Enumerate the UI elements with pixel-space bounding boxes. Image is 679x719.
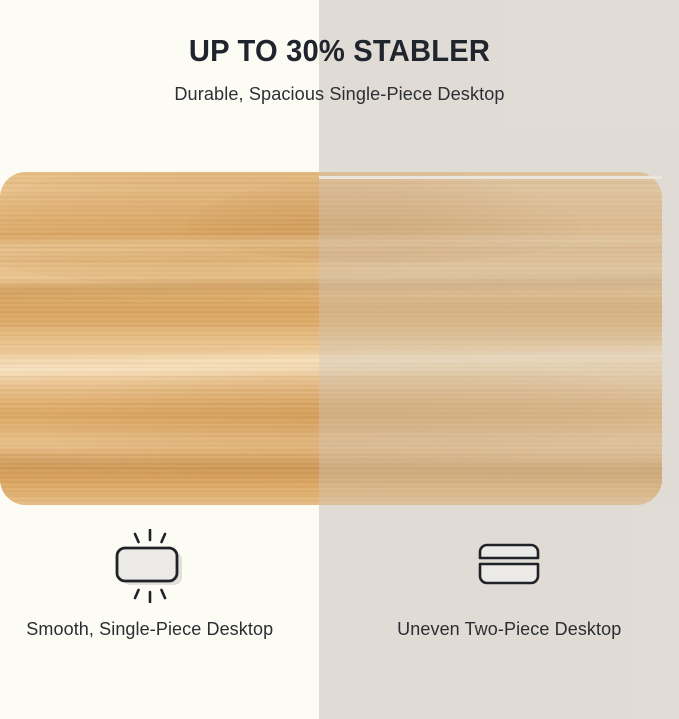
page-subheadline: Durable, Spacious Single-Piece Desktop bbox=[7, 71, 672, 106]
comparison-caption-left: Smooth, Single-Piece Desktop bbox=[26, 601, 273, 643]
two-piece-desktop-icon bbox=[461, 531, 557, 601]
comparison-row: Smooth, Single-Piece Desktop Uneven Two-… bbox=[0, 505, 679, 719]
infographic-page: UP TO 30% STABLER Durable, Spacious Sing… bbox=[0, 0, 679, 719]
comparison-column-right: Uneven Two-Piece Desktop bbox=[340, 505, 679, 719]
header: UP TO 30% STABLER Durable, Spacious Sing… bbox=[0, 0, 679, 106]
desktop-seam-line bbox=[319, 176, 662, 179]
single-piece-desktop-icon bbox=[102, 531, 198, 601]
comparison-column-left: Smooth, Single-Piece Desktop bbox=[0, 505, 320, 719]
page-headline: UP TO 30% STABLER bbox=[20, 0, 658, 71]
comparison-caption-right: Uneven Two-Piece Desktop bbox=[397, 601, 621, 643]
wood-grain-fine bbox=[0, 172, 662, 505]
desktop-product-image bbox=[0, 172, 662, 505]
wood-desktop-surface bbox=[0, 172, 662, 505]
